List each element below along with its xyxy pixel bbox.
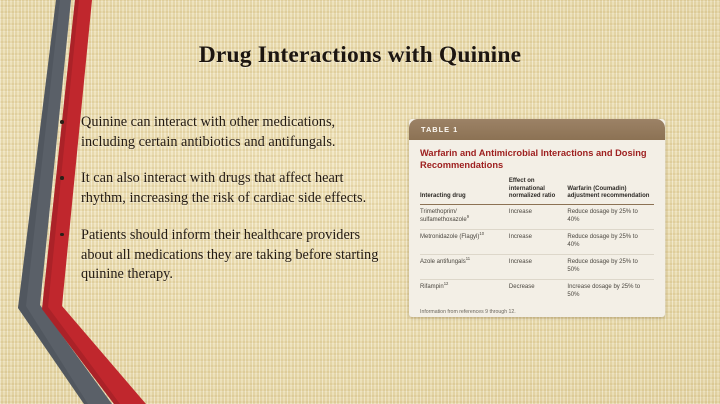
cell-effect: Increase [509,255,568,280]
table-row: Azole antifungals11 Increase Reduce dosa… [420,255,654,280]
cell-drug: Rifampin12 [420,280,509,304]
footnote-ref: 9 [467,214,469,219]
cell-drug: Trimethoprim/ sulfamethoxazole9 [420,205,509,230]
cell-recommendation: Reduce dosage by 25% to 50% [567,255,654,280]
list-item: Patients should inform their healthcare … [56,226,386,285]
table-title: Warfarin and Antimicrobial Interactions … [420,147,654,172]
cell-effect: Increase [509,230,568,255]
cell-effect: Increase [509,205,568,230]
list-item-text: It can also interact with drugs that aff… [81,170,366,206]
list-item: It can also interact with drugs that aff… [56,169,386,208]
column-header-drug: Interacting drug [420,178,509,205]
cell-recommendation: Reduce dosage by 25% to 40% [567,230,654,255]
cell-effect: Decrease [509,280,568,304]
table-footnote: Information from references 9 through 12… [409,304,665,315]
table-body: Warfarin and Antimicrobial Interactions … [409,140,665,304]
list-item-text: Quinine can interact with other medicati… [81,114,336,150]
cell-recommendation: Increase dosage by 25% to 50% [567,280,654,304]
presentation-slide: Drug Interactions with Quinine Quinine c… [0,0,720,404]
table-row: Metronidazole (Flagyl)10 Increase Reduce… [420,230,654,255]
interactions-table: Interacting drug Effect on international… [420,178,654,305]
table-row: Trimethoprim/ sulfamethoxazole9 Increase… [420,205,654,230]
table-row: Rifampin12 Decrease Increase dosage by 2… [420,280,654,304]
bullet-dot-icon [60,120,64,124]
page-title: Drug Interactions with Quinine [0,42,720,69]
column-header-recommendation: Warfarin (Coumadin) adjustment recommend… [567,178,654,205]
footnote-ref: 12 [444,281,449,286]
list-item: Quinine can interact with other medicati… [56,113,386,152]
bullet-list: Quinine can interact with other medicati… [56,113,386,285]
table-label: TABLE 1 [421,125,458,134]
bullet-dot-icon [60,233,64,237]
table-label-bar: TABLE 1 [409,119,665,140]
bullet-dot-icon [60,176,64,180]
footnote-ref: 10 [479,231,484,236]
cell-drug: Azole antifungals11 [420,255,509,280]
table-header-row: Interacting drug Effect on international… [420,178,654,205]
column-header-effect: Effect on international normalized ratio [509,178,568,205]
list-item-text: Patients should inform their healthcare … [81,227,378,282]
cell-recommendation: Reduce dosage by 25% to 40% [567,205,654,230]
footnote-ref: 11 [466,256,470,261]
cell-drug: Metronidazole (Flagyl)10 [420,230,509,255]
table-figure-image: TABLE 1 Warfarin and Antimicrobial Inter… [409,119,665,317]
